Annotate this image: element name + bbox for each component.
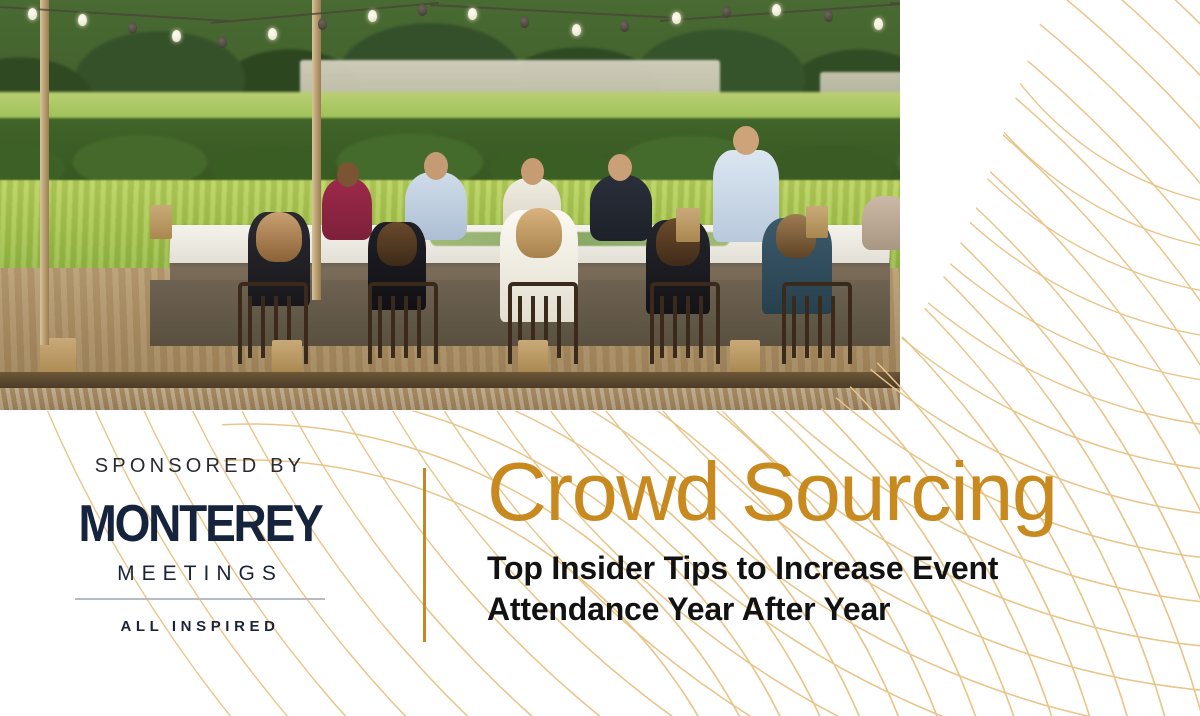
subtitle-line-2: Attendance Year After Year <box>487 589 1187 631</box>
wood-block <box>730 340 760 374</box>
wood-beam <box>0 372 1200 388</box>
headline-block: Crowd Sourcing Top Insider Tips to Incre… <box>487 452 1187 631</box>
chair <box>368 282 438 364</box>
hero-photo <box>0 0 1200 410</box>
guest-far-2-head <box>424 152 448 180</box>
monterey-logo: MONTEREY MEETINGS ALL INSPIRED <box>60 500 340 635</box>
tent-post <box>312 0 321 300</box>
wood-block <box>518 340 548 374</box>
wood-block <box>900 208 924 242</box>
guest-near-2-head <box>377 222 417 266</box>
subtitle-line-1: Top Insider Tips to Increase Event <box>487 548 1187 590</box>
sponsor-lockup: SPONSORED BY MONTEREY MEETINGS ALL INSPI… <box>0 455 400 635</box>
gold-vertical-divider <box>423 468 426 642</box>
guest-near-3-head <box>516 208 562 258</box>
wood-block <box>806 206 828 238</box>
wood-block <box>150 205 172 239</box>
monterey-wordmark: MONTEREY <box>60 497 340 549</box>
promo-banner: SPONSORED BY MONTEREY MEETINGS ALL INSPI… <box>0 0 1200 716</box>
meetings-wordmark: MEETINGS <box>60 562 340 586</box>
host-standing-head <box>733 126 759 155</box>
page-subtitle: Top Insider Tips to Increase Event Atten… <box>487 548 1187 631</box>
tent-post <box>925 0 934 250</box>
guest-far-1-head <box>337 162 359 187</box>
tent-post <box>40 0 49 345</box>
wood-block <box>676 208 700 242</box>
guest-far-3-head <box>521 158 544 185</box>
logo-divider-rule <box>75 598 325 600</box>
guest-far-4 <box>590 175 652 241</box>
guest-far-1 <box>322 178 372 240</box>
wood-block <box>272 340 302 374</box>
page-title: Crowd Sourcing <box>487 452 1187 532</box>
chair <box>782 282 852 364</box>
sponsored-by-label: SPONSORED BY <box>0 455 400 478</box>
wood-beam-lower <box>0 388 1200 410</box>
chair <box>650 282 720 364</box>
guest-near-1-head <box>256 212 302 262</box>
guest-far-4-head <box>608 154 632 181</box>
all-inspired-tagline: ALL INSPIRED <box>60 618 340 635</box>
